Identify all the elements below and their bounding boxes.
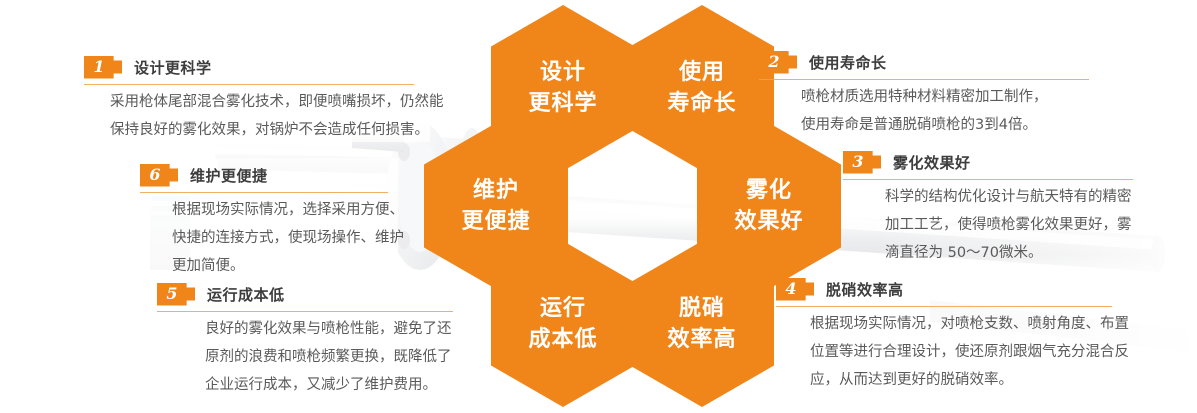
feature-5-line-1: 良好的雾化效果与喷枪性能，避免了还 <box>205 316 453 344</box>
feature-3-number-badge: 3 <box>843 151 881 174</box>
hexagon-cost-line1: 运行 <box>540 293 586 324</box>
feature-5-number-badge: 5 <box>157 283 195 306</box>
feature-6-line-1: 根据现场实际情况，选择采用方便、 <box>172 197 388 225</box>
feature-6-body: 根据现场实际情况，选择采用方便、 快捷的连接方式，使现场操作、维护 更加简便。 <box>140 197 388 280</box>
feature-block-1: 1 设计更科学 采用枪体尾部混合雾化技术，即便喷嘴损坏，仍然能 保持良好的雾化效… <box>84 55 414 145</box>
feature-4-number-badge: 4 <box>776 278 814 301</box>
feature-2-line-2: 使用寿命是普通脱硝喷枪的3到4倍。 <box>801 112 1089 140</box>
feature-block-5: 5 运行成本低 良好的雾化效果与喷枪性能，避免了还 原剂的浪费和喷枪频繁更换，既… <box>157 282 453 399</box>
feature-5-line-2: 原剂的浪费和喷枪频繁更换，既降低了 <box>205 344 453 372</box>
feature-2-divider <box>759 79 1089 80</box>
hexagon-cost-line2: 成本低 <box>528 324 597 355</box>
feature-6-line-2: 快捷的连接方式，使现场操作、维护 <box>172 225 388 253</box>
feature-5-header: 5 运行成本低 <box>157 282 453 306</box>
feature-4-line-1: 根据现场实际情况，对喷枪支数、喷射角度、布置 <box>810 311 1112 339</box>
hexagon-atomization-line2: 效果好 <box>734 206 803 237</box>
feature-3-body: 科学的结构优化设计与航天特有的精密 加工工艺，使得喷枪雾化效果更好，雾 滴直径为… <box>843 184 1133 267</box>
feature-1-title: 设计更科学 <box>134 57 212 78</box>
feature-2-body: 喷枪材质选用特种材料精密加工制作， 使用寿命是普通脱硝喷枪的3到4倍。 <box>759 84 1089 140</box>
feature-6-line-3: 更加简便。 <box>172 253 388 281</box>
feature-6-number-badge: 6 <box>140 164 178 187</box>
feature-block-4: 4 脱硝效率高 根据现场实际情况，对喷枪支数、喷射角度、布置 位置等进行合理设计… <box>776 277 1112 394</box>
feature-1-header: 1 设计更科学 <box>84 55 414 79</box>
feature-4-header: 4 脱硝效率高 <box>776 277 1112 301</box>
feature-1-line-2: 保持良好的雾化效果，对锅炉不会造成任何损害。 <box>110 117 414 145</box>
feature-4-body: 根据现场实际情况，对喷枪支数、喷射角度、布置 位置等进行合理设计，使还原剂跟烟气… <box>776 311 1112 394</box>
feature-1-number-badge: 1 <box>84 56 122 79</box>
feature-2-number-badge: 2 <box>759 51 797 74</box>
feature-1-number: 1 <box>84 56 114 79</box>
feature-1-divider <box>84 84 414 85</box>
hexagon-maintenance-line2: 更便捷 <box>461 206 530 237</box>
feature-2-number: 2 <box>759 51 789 74</box>
feature-6-header: 6 维护更便捷 <box>140 163 388 187</box>
feature-3-number: 3 <box>843 151 873 174</box>
feature-3-title: 雾化效果好 <box>893 152 971 173</box>
hexagon-design-line1: 设计 <box>540 57 586 88</box>
feature-6-number: 6 <box>140 164 170 187</box>
hexagon-denitration-line1: 脱硝 <box>679 293 725 324</box>
hexagon-lifespan-line1: 使用 <box>679 57 725 88</box>
feature-2-header: 2 使用寿命长 <box>759 50 1089 74</box>
feature-4-number: 4 <box>776 278 806 301</box>
feature-1-body: 采用枪体尾部混合雾化技术，即便喷嘴损坏，仍然能 保持良好的雾化效果，对锅炉不会造… <box>84 89 414 145</box>
infographic-canvas: 设计 更科学 使用 寿命长 维护 更便捷 雾化 效果好 运行 成本低 脱硝 效率… <box>0 0 1197 413</box>
feature-6-title: 维护更便捷 <box>190 165 268 186</box>
hexagon-denitration-line2: 效率高 <box>667 324 736 355</box>
feature-6-divider <box>140 192 388 193</box>
feature-3-line-3: 滴直径为 50～70微米。 <box>885 240 1133 268</box>
hexagon-lifespan-line2: 寿命长 <box>667 88 736 119</box>
feature-2-line-1: 喷枪材质选用特种材料精密加工制作， <box>801 84 1089 112</box>
feature-3-line-1: 科学的结构优化设计与航天特有的精密 <box>885 184 1133 212</box>
feature-5-line-3: 企业运行成本，又减少了维护费用。 <box>205 372 453 400</box>
feature-5-divider <box>157 311 453 312</box>
feature-4-divider <box>776 306 1112 307</box>
feature-5-body: 良好的雾化效果与喷枪性能，避免了还 原剂的浪费和喷枪频繁更换，既降低了 企业运行… <box>157 316 453 399</box>
feature-block-3: 3 雾化效果好 科学的结构优化设计与航天特有的精密 加工工艺，使得喷枪雾化效果更… <box>843 150 1133 267</box>
feature-1-line-1: 采用枪体尾部混合雾化技术，即便喷嘴损坏，仍然能 <box>110 89 414 117</box>
feature-4-line-3: 应，从而达到更好的脱硝效率。 <box>810 367 1112 395</box>
feature-block-6: 6 维护更便捷 根据现场实际情况，选择采用方便、 快捷的连接方式，使现场操作、维… <box>140 163 388 280</box>
feature-3-header: 3 雾化效果好 <box>843 150 1133 174</box>
hexagon-design-line2: 更科学 <box>528 88 597 119</box>
feature-5-number: 5 <box>157 283 187 306</box>
feature-4-line-2: 位置等进行合理设计，使还原剂跟烟气充分混合反 <box>810 339 1112 367</box>
hexagon-maintenance-line1: 维护 <box>473 175 519 206</box>
feature-2-title: 使用寿命长 <box>809 52 887 73</box>
feature-4-title: 脱硝效率高 <box>826 279 904 300</box>
feature-5-title: 运行成本低 <box>207 284 285 305</box>
feature-block-2: 2 使用寿命长 喷枪材质选用特种材料精密加工制作， 使用寿命是普通脱硝喷枪的3到… <box>759 50 1089 140</box>
feature-3-divider <box>843 179 1133 180</box>
feature-3-line-2: 加工工艺，使得喷枪雾化效果更好，雾 <box>885 212 1133 240</box>
hexagon-atomization-line1: 雾化 <box>746 175 792 206</box>
